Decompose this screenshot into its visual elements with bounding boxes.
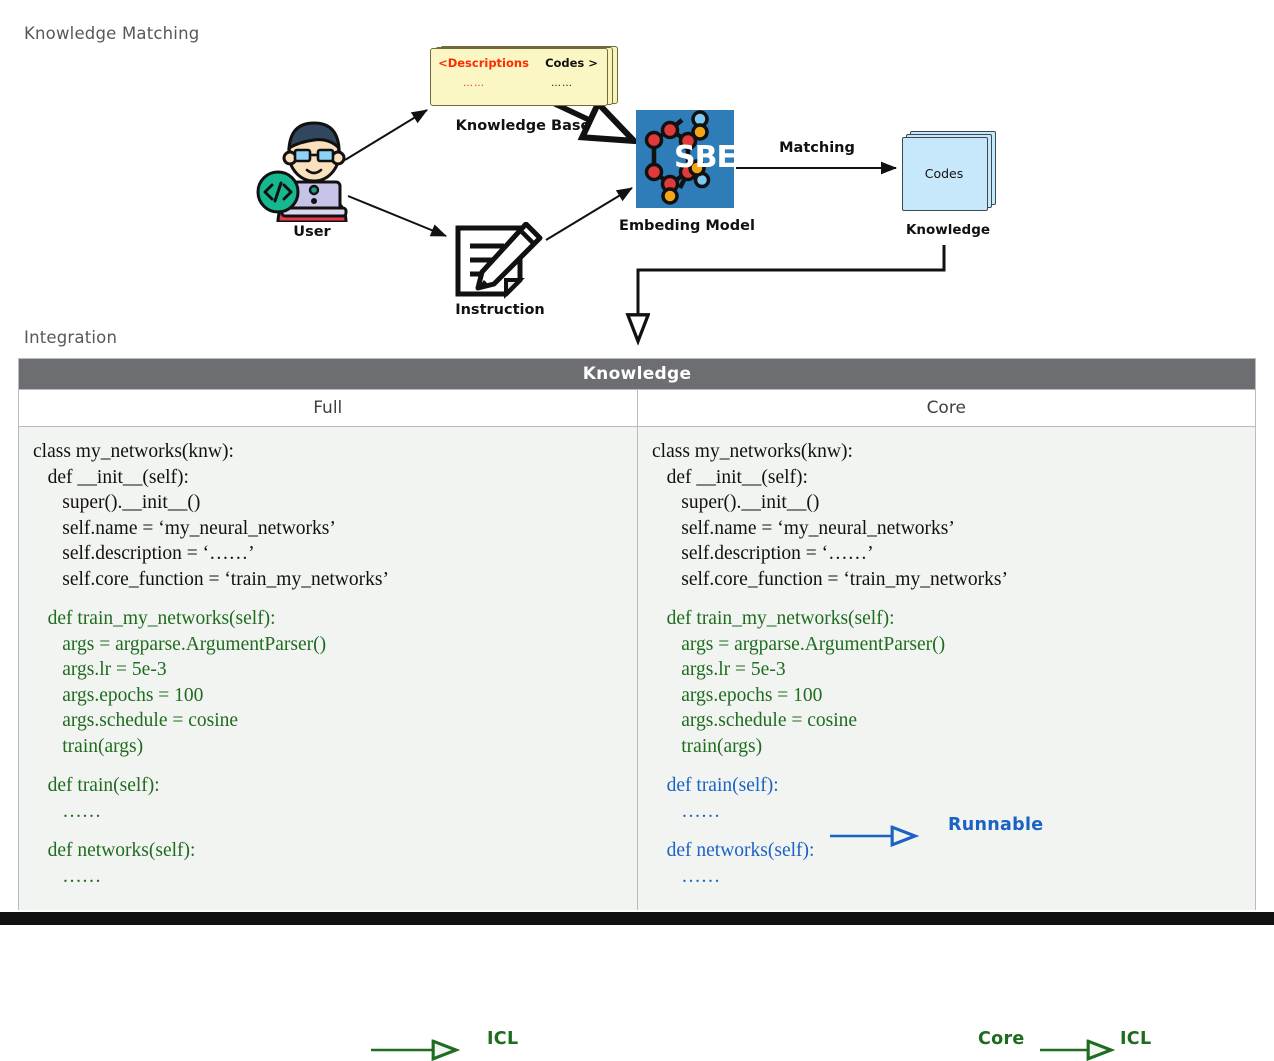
edge-label-matching: Matching [762,140,872,156]
column-header-core: Core [637,390,1256,426]
code-line: class my_networks(knw): [19,439,637,465]
user-caption: User [262,224,362,240]
embedding-model-caption: Embeding Model [612,218,762,234]
code-line: self.description = ‘……’ [19,541,637,567]
code-line: class my_networks(knw): [638,439,1255,465]
kb-ellipsis-row: …… …… [430,78,606,89]
code-line-spacer [638,824,1255,838]
integration-table: Knowledge Full Core class my_networks(kn… [18,358,1256,910]
code-block-full: class my_networks(knw): def __init__(sel… [19,439,637,889]
table-subheader-row: Full Core [19,389,1255,427]
tag-icl-core: ICL [1120,1029,1151,1049]
code-line: …… [19,799,637,825]
knowledge-base-card-stack: <Descriptions Codes > …… …… [430,46,616,104]
user-icon [256,118,368,222]
code-line: super().__init__() [638,490,1255,516]
code-line: self.core_function = ‘train_my_networks’ [19,567,637,593]
pipeline-diagram: Matching <Descriptions Codes > …… …… Kno… [0,0,1274,352]
tag-core: Core [978,1029,1025,1049]
tag-icl-full: ICL [487,1029,518,1049]
code-line: args.epochs = 100 [19,683,637,709]
code-line: args.schedule = cosine [638,708,1255,734]
code-line: def train(self): [638,773,1255,799]
codes-card-label: Codes [902,137,986,209]
figure-root: Knowledge Matching Integration [0,0,1274,925]
code-line: def networks(self): [638,838,1255,864]
code-line: args = argparse.ArgumentParser() [638,632,1255,658]
code-line: args = argparse.ArgumentParser() [19,632,637,658]
code-block-core: class my_networks(knw): def __init__(sel… [638,439,1255,889]
code-column-full: class my_networks(knw): def __init__(sel… [19,427,637,910]
code-line: args.epochs = 100 [638,683,1255,709]
kb-codes-ellipsis: …… [551,78,573,89]
code-line-spacer [19,824,637,838]
runnable-arrow [828,825,938,847]
code-line: def __init__(self): [19,465,637,491]
tag-runnable: Runnable [948,815,1043,835]
kb-descriptions-label: <Descriptions [438,56,529,70]
code-line: def __init__(self): [638,465,1255,491]
table-body: class my_networks(knw): def __init__(sel… [19,427,1255,910]
knowledge-codes-stack: Codes [902,131,994,209]
code-line: def networks(self): [19,838,637,864]
code-line-spacer [19,592,637,606]
code-line: args.lr = 5e-3 [638,657,1255,683]
embedding-model-logo: SBE [636,110,734,208]
code-line: …… [19,864,637,890]
code-line-spacer [19,759,637,773]
instruction-icon [452,222,544,306]
bottom-border [0,912,1274,925]
code-line: self.name = ‘my_neural_networks’ [19,516,637,542]
code-line: def train_my_networks(self): [638,606,1255,632]
knowledge-base-caption: Knowledge Base [430,118,616,134]
code-column-core: class my_networks(knw): def __init__(sel… [637,427,1255,910]
table-header-knowledge: Knowledge [19,359,1255,389]
code-line: …… [638,864,1255,890]
kb-descriptions-ellipsis: …… [463,78,485,89]
code-line: self.name = ‘my_neural_networks’ [638,516,1255,542]
code-line: train(args) [19,734,637,760]
code-line-spacer [638,759,1255,773]
kb-header-row: <Descriptions Codes > [430,56,606,70]
kb-codes-label: Codes > [545,56,598,70]
code-line: train(args) [638,734,1255,760]
code-line: args.lr = 5e-3 [19,657,637,683]
code-line-spacer [638,592,1255,606]
embedding-model-logo-text: SBE [674,143,736,173]
code-line: self.description = ‘……’ [638,541,1255,567]
instruction-caption: Instruction [432,302,568,318]
code-line: …… [638,799,1255,825]
code-line: self.core_function = ‘train_my_networks’ [638,567,1255,593]
knowledge-caption: Knowledge [890,222,1006,238]
icl-arrow-full [369,1039,479,1061]
code-line: super().__init__() [19,490,637,516]
code-line: def train(self): [19,773,637,799]
code-line: def train_my_networks(self): [19,606,637,632]
column-header-full: Full [19,390,637,426]
code-line: args.schedule = cosine [19,708,637,734]
